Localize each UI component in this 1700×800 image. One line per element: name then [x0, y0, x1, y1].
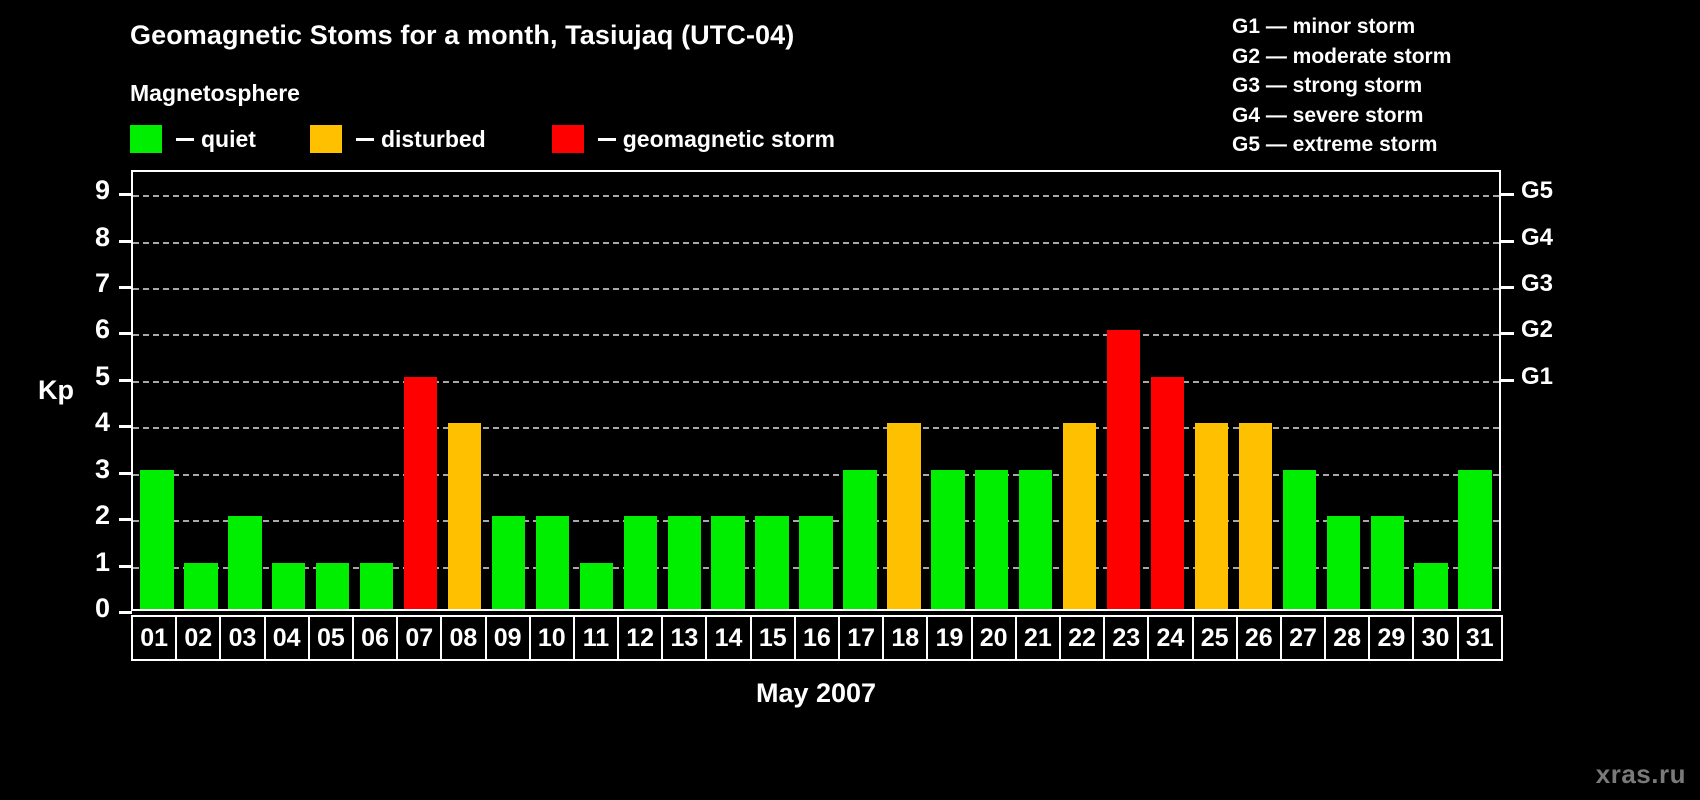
gscale-line-g4: G4 — severe storm — [1232, 101, 1451, 131]
y-tick-label-7: 7 — [70, 268, 110, 299]
bar-slot-09[interactable] — [487, 172, 531, 609]
day-label-27[interactable]: 27 — [1280, 615, 1326, 661]
bar-16-quiet[interactable] — [799, 516, 832, 609]
watermark: xras.ru — [1596, 759, 1686, 790]
day-label-16[interactable]: 16 — [794, 615, 840, 661]
bar-18-disturbed[interactable] — [887, 423, 920, 609]
legend-label-quiet: quiet — [201, 126, 256, 153]
day-label-19[interactable]: 19 — [926, 615, 972, 661]
y-tick-label-1: 1 — [70, 547, 110, 578]
day-label-04[interactable]: 04 — [264, 615, 310, 661]
day-label-05[interactable]: 05 — [308, 615, 354, 661]
day-label-15[interactable]: 15 — [750, 615, 796, 661]
day-label-23[interactable]: 23 — [1103, 615, 1149, 661]
gscale-line-g5: G5 — extreme storm — [1232, 130, 1451, 160]
day-label-29[interactable]: 29 — [1368, 615, 1414, 661]
day-label-12[interactable]: 12 — [617, 615, 663, 661]
y-tick-label-6: 6 — [70, 314, 110, 345]
day-label-28[interactable]: 28 — [1324, 615, 1370, 661]
bar-slot-02[interactable] — [179, 172, 223, 609]
g-tick-label-G4: G4 — [1521, 224, 1553, 252]
legend-item-disturbed: disturbed — [310, 123, 486, 155]
bar-31-quiet[interactable] — [1458, 470, 1491, 609]
day-label-26[interactable]: 26 — [1236, 615, 1282, 661]
g-tick-mark-G4 — [1501, 240, 1514, 243]
g-tick-mark-G2 — [1501, 332, 1514, 335]
bar-slot-27[interactable] — [1277, 172, 1321, 609]
y-tick-label-5: 5 — [70, 361, 110, 392]
bar-28-quiet[interactable] — [1327, 516, 1360, 609]
bar-10-quiet[interactable] — [536, 516, 569, 609]
day-label-13[interactable]: 13 — [661, 615, 707, 661]
bar-slot-15[interactable] — [750, 172, 794, 609]
bar-22-disturbed[interactable] — [1063, 423, 1096, 609]
legend-swatch-quiet — [130, 125, 162, 153]
day-label-21[interactable]: 21 — [1015, 615, 1061, 661]
y-tick-mark-0 — [119, 611, 132, 614]
day-label-20[interactable]: 20 — [971, 615, 1017, 661]
bar-19-quiet[interactable] — [931, 470, 964, 609]
legend: quiet disturbed geomagnetic storm — [130, 123, 835, 155]
bar-slot-20[interactable] — [970, 172, 1014, 609]
bar-11-quiet[interactable] — [580, 563, 613, 609]
y-tick-label-8: 8 — [70, 222, 110, 253]
bar-02-quiet[interactable] — [184, 563, 217, 609]
day-label-24[interactable]: 24 — [1147, 615, 1193, 661]
bar-20-quiet[interactable] — [975, 470, 1008, 609]
g-tick-mark-G5 — [1501, 193, 1514, 196]
day-label-25[interactable]: 25 — [1192, 615, 1238, 661]
gscale-line-g2: G2 — moderate storm — [1232, 42, 1451, 72]
gscale-legend: G1 — minor storm G2 — moderate storm G3 … — [1232, 12, 1451, 160]
bar-23-storm[interactable] — [1107, 330, 1140, 609]
y-tick-label-9: 9 — [70, 175, 110, 206]
bar-06-quiet[interactable] — [360, 563, 393, 609]
bar-slot-23[interactable] — [1102, 172, 1146, 609]
gscale-line-g1: G1 — minor storm — [1232, 12, 1451, 42]
bar-09-quiet[interactable] — [492, 516, 525, 609]
bar-slot-28[interactable] — [1321, 172, 1365, 609]
bar-05-quiet[interactable] — [316, 563, 349, 609]
y-tick-label-2: 2 — [70, 500, 110, 531]
day-label-08[interactable]: 08 — [440, 615, 486, 661]
bar-13-quiet[interactable] — [668, 516, 701, 609]
plot-area — [131, 170, 1501, 611]
legend-dash-icon — [176, 138, 194, 141]
bar-slot-14[interactable] — [706, 172, 750, 609]
bar-slot-08[interactable] — [443, 172, 487, 609]
bar-25-disturbed[interactable] — [1195, 423, 1228, 609]
bar-slot-30[interactable] — [1409, 172, 1453, 609]
legend-label-storm: geomagnetic storm — [623, 126, 835, 153]
y-axis-title: Kp — [38, 375, 74, 406]
day-label-07[interactable]: 07 — [396, 615, 442, 661]
bar-slot-06[interactable] — [355, 172, 399, 609]
day-label-31[interactable]: 31 — [1457, 615, 1503, 661]
bar-14-quiet[interactable] — [711, 516, 744, 609]
g-tick-label-G1: G1 — [1521, 363, 1553, 391]
bar-12-quiet[interactable] — [624, 516, 657, 609]
bar-27-quiet[interactable] — [1283, 470, 1316, 609]
bar-29-quiet[interactable] — [1371, 516, 1404, 609]
bar-15-quiet[interactable] — [755, 516, 788, 609]
bars — [133, 172, 1499, 609]
bar-slot-12[interactable] — [618, 172, 662, 609]
g-tick-label-G2: G2 — [1521, 316, 1553, 344]
bar-slot-17[interactable] — [838, 172, 882, 609]
bar-01-quiet[interactable] — [140, 470, 173, 609]
day-label-09[interactable]: 09 — [485, 615, 531, 661]
bar-slot-22[interactable] — [1058, 172, 1102, 609]
bar-30-quiet[interactable] — [1414, 563, 1447, 609]
bar-slot-19[interactable] — [926, 172, 970, 609]
day-label-01[interactable]: 01 — [131, 615, 177, 661]
bar-slot-18[interactable] — [882, 172, 926, 609]
bar-slot-21[interactable] — [1014, 172, 1058, 609]
gscale-line-g3: G3 — strong storm — [1232, 71, 1451, 101]
legend-swatch-storm — [552, 125, 584, 153]
bar-slot-13[interactable] — [662, 172, 706, 609]
day-label-06[interactable]: 06 — [352, 615, 398, 661]
day-label-02[interactable]: 02 — [175, 615, 221, 661]
day-label-14[interactable]: 14 — [705, 615, 751, 661]
bar-slot-03[interactable] — [223, 172, 267, 609]
y-tick-label-3: 3 — [70, 454, 110, 485]
legend-dash-icon — [598, 138, 616, 141]
legend-heading: Magnetosphere — [130, 80, 300, 107]
bar-17-quiet[interactable] — [843, 470, 876, 609]
day-label-30[interactable]: 30 — [1412, 615, 1458, 661]
x-axis-title: May 2007 — [131, 678, 1501, 709]
bar-slot-10[interactable] — [530, 172, 574, 609]
bar-03-quiet[interactable] — [228, 516, 261, 609]
bar-slot-04[interactable] — [267, 172, 311, 609]
bar-21-quiet[interactable] — [1019, 470, 1052, 609]
geomagnetic-storm-chart: Geomagnetic Stoms for a month, Tasiujaq … — [0, 0, 1700, 800]
bar-slot-16[interactable] — [794, 172, 838, 609]
y-tick-label-4: 4 — [70, 407, 110, 438]
bar-slot-31[interactable] — [1453, 172, 1497, 609]
bar-slot-26[interactable] — [1233, 172, 1277, 609]
legend-swatch-disturbed — [310, 125, 342, 153]
bar-08-disturbed[interactable] — [448, 423, 481, 609]
legend-item-geomagnetic-storm: geomagnetic storm — [552, 123, 835, 155]
g-tick-label-G3: G3 — [1521, 270, 1553, 298]
bar-slot-29[interactable] — [1365, 172, 1409, 609]
bar-slot-01[interactable] — [135, 172, 179, 609]
g-tick-label-G5: G5 — [1521, 177, 1553, 205]
legend-label-disturbed: disturbed — [381, 126, 486, 153]
x-axis-day-labels: 0102030405060708091011121314151617181920… — [131, 615, 1501, 661]
bar-slot-11[interactable] — [574, 172, 618, 609]
day-label-11[interactable]: 11 — [573, 615, 619, 661]
bar-04-quiet[interactable] — [272, 563, 305, 609]
bar-07-storm[interactable] — [404, 377, 437, 609]
y-tick-label-0: 0 — [70, 593, 110, 624]
day-label-22[interactable]: 22 — [1059, 615, 1105, 661]
legend-item-quiet: quiet — [130, 123, 256, 155]
day-label-17[interactable]: 17 — [838, 615, 884, 661]
legend-dash-icon — [356, 138, 374, 141]
bar-24-storm[interactable] — [1151, 377, 1184, 609]
g-tick-mark-G3 — [1501, 286, 1514, 289]
bar-slot-24[interactable] — [1146, 172, 1190, 609]
page-title: Geomagnetic Stoms for a month, Tasiujaq … — [130, 20, 794, 51]
bar-slot-07[interactable] — [399, 172, 443, 609]
bar-26-disturbed[interactable] — [1239, 423, 1272, 609]
bar-slot-25[interactable] — [1190, 172, 1234, 609]
bar-slot-05[interactable] — [311, 172, 355, 609]
day-label-18[interactable]: 18 — [882, 615, 928, 661]
g-tick-mark-G1 — [1501, 379, 1514, 382]
day-label-03[interactable]: 03 — [219, 615, 265, 661]
day-label-10[interactable]: 10 — [529, 615, 575, 661]
